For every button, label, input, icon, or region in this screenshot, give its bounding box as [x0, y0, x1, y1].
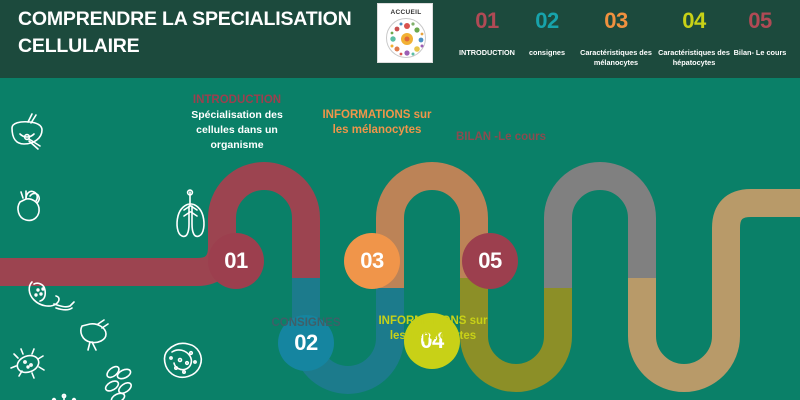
- step-subtitle-04: les hépatocytes: [368, 329, 498, 344]
- step-heading-01: INTRODUCTION: [178, 93, 296, 108]
- infographic-canvas: 01 02 03 04 05 INTRODUCTION Spécialisati…: [0, 78, 800, 400]
- step-label-02: CONSIGNES: [246, 316, 366, 331]
- accueil-thumbnail-label: ACCUEIL: [378, 9, 433, 16]
- page-title: COMPRENDRE LA SPECIALISATION CELLULAIRE: [18, 6, 368, 60]
- step-heading-03: INFORMATIONS sur: [310, 108, 444, 123]
- kidney-icon: [81, 320, 108, 350]
- step-circle-05[interactable]: 05: [462, 233, 518, 289]
- step-heading-05: BILAN -Le cours: [436, 130, 566, 145]
- page-header: COMPRENDRE LA SPECIALISATION CELLULAIRE …: [0, 0, 800, 78]
- cell-diagram-icon: [387, 19, 427, 59]
- accueil-thumbnail[interactable]: ACCUEIL: [377, 3, 433, 63]
- nav-label-05: Bilan- Le cours: [723, 48, 797, 58]
- stomach-icon: [29, 282, 74, 310]
- nav-number-05: 05: [723, 8, 797, 34]
- virus-icon: [48, 394, 79, 400]
- step-circle-01[interactable]: 01: [208, 233, 264, 289]
- step-label-05: BILAN -Le cours: [436, 130, 566, 145]
- step-number-05: 05: [478, 248, 501, 274]
- blood-cells-icon: [104, 364, 133, 400]
- heart-icon: [18, 191, 39, 220]
- step-label-04: INFORMATIONS sur les hépatocytes: [368, 314, 498, 344]
- nav-item-05[interactable]: 05 Bilan- Le cours: [723, 8, 797, 58]
- step-heading-04: INFORMATIONS sur: [368, 314, 498, 329]
- infographic-page: COMPRENDRE LA SPECIALISATION CELLULAIRE …: [0, 0, 800, 400]
- bacteria-icon: [11, 349, 44, 378]
- step-number-03: 03: [360, 248, 383, 274]
- step-circle-03[interactable]: 03: [344, 233, 400, 289]
- liver-icon: [12, 114, 42, 149]
- step-label-01: INTRODUCTION Spécialisation des cellules…: [178, 93, 296, 153]
- step-number-02: 02: [294, 330, 317, 356]
- step-subtitle-03: les mélanocytes: [310, 123, 444, 138]
- thumbnail-illustration-icon: [386, 18, 426, 58]
- lungs-icon: [177, 190, 204, 236]
- amoeba-icon: [165, 343, 202, 377]
- step-heading-02: CONSIGNES: [246, 316, 366, 331]
- step-number-01: 01: [224, 248, 247, 274]
- step-subtitle-01: Spécialisation des cellules dans un orga…: [178, 108, 296, 153]
- step-label-03: INFORMATIONS sur les mélanocytes: [310, 108, 444, 138]
